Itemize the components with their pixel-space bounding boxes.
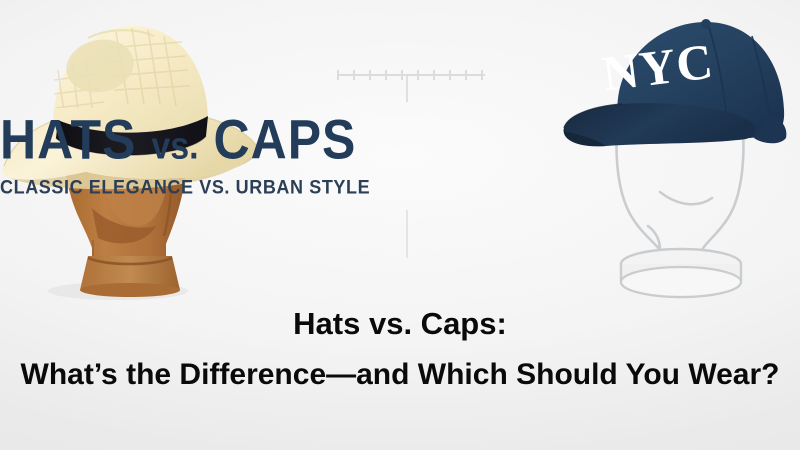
- mannequin-base: [621, 249, 741, 297]
- ruler-vertical-tick: [406, 76, 408, 102]
- hero-title: HATS vs. CAPS: [0, 108, 800, 177]
- hero-banner: NYC HATS vs. CAPS CLASSIC ELEGANCE VS. U…: [0, 0, 800, 450]
- decorative-ruler: [337, 74, 485, 76]
- caption-line-1: Hats vs. Caps:: [0, 306, 800, 342]
- caption-line-2: What’s the Difference—and Which Should Y…: [0, 358, 800, 392]
- hero-title-part1: HATS: [0, 108, 136, 171]
- title-divider-line: [406, 210, 408, 258]
- hero-title-vs: vs.: [151, 125, 198, 168]
- hero-subtitle: CLASSIC ELEGANCE VS. URBAN STYLE: [0, 176, 800, 199]
- hero-title-part2: CAPS: [213, 108, 356, 171]
